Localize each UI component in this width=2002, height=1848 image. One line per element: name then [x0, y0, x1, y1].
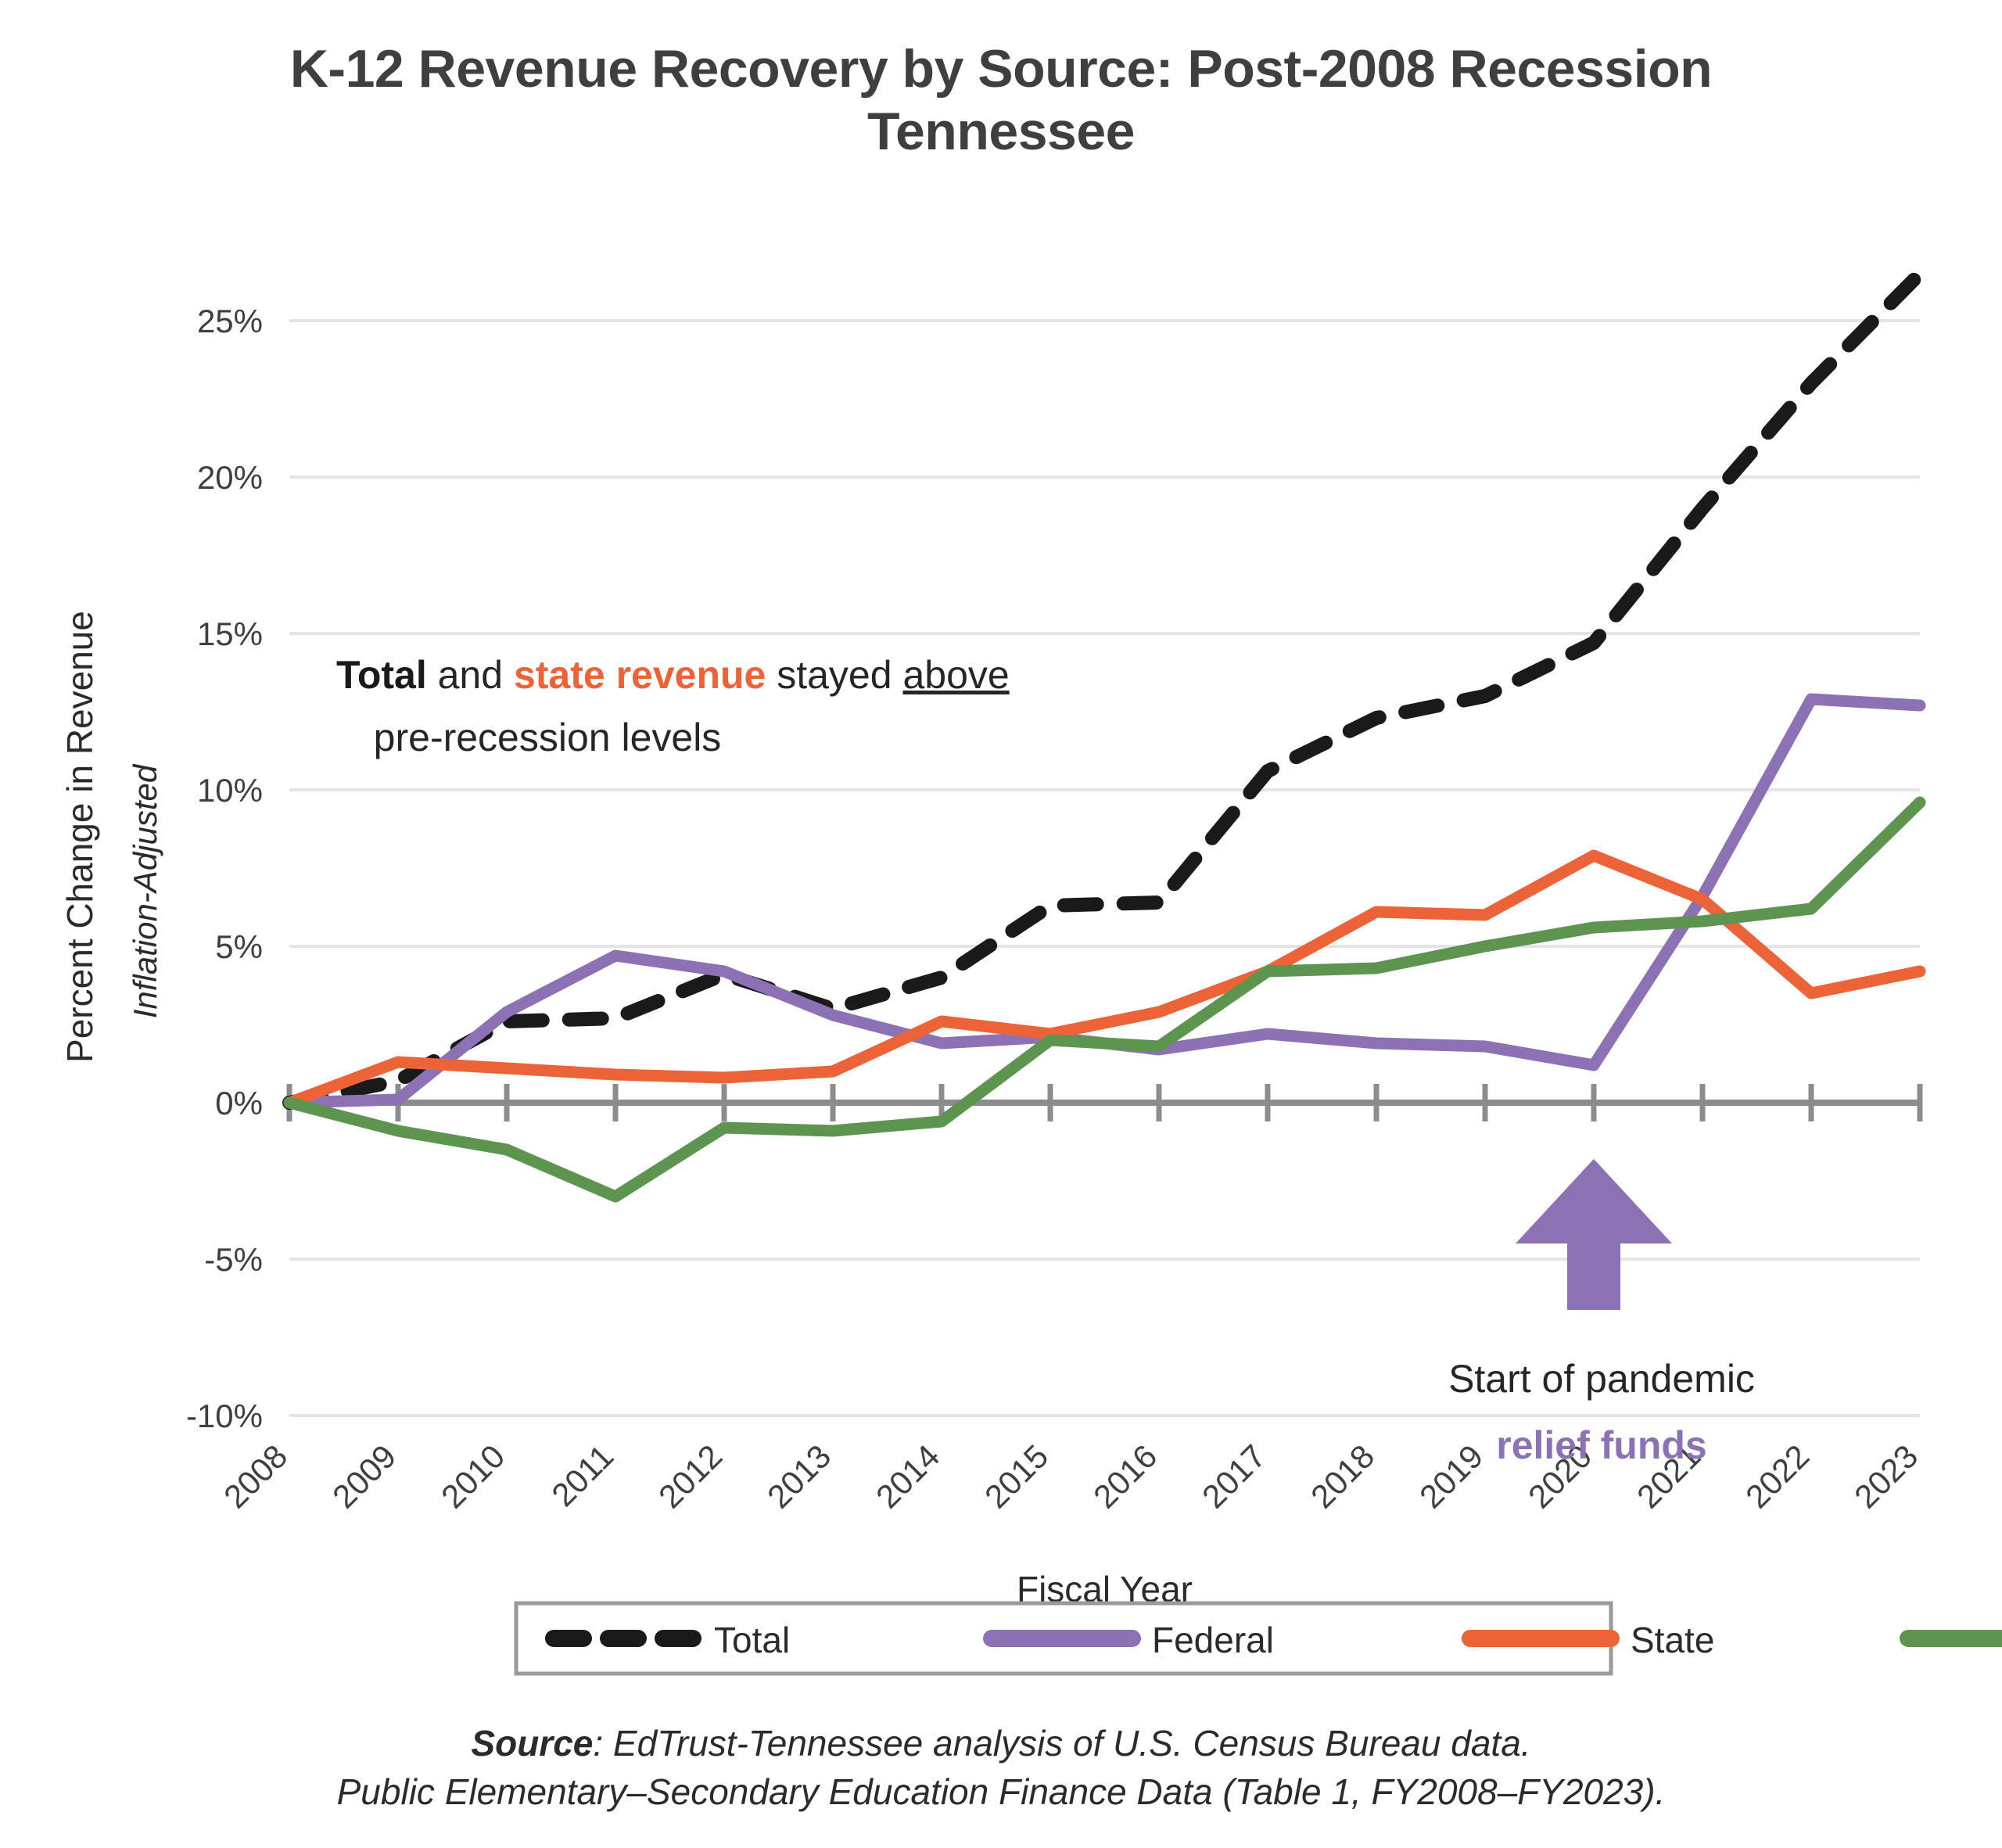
y-axis-tick-label: -10% — [186, 1398, 263, 1434]
callout-line-2: pre-recession levels — [374, 716, 722, 759]
legend-label-federal[interactable]: Federal — [1152, 1620, 1274, 1660]
x-axis-tick-label: 2011 — [544, 1437, 620, 1513]
y-axis-tick-label: 5% — [215, 928, 263, 965]
x-axis-tick-label: 2016 — [1086, 1437, 1164, 1515]
source-line-2: Public Elementary–Secondary Education Fi… — [0, 1767, 2002, 1816]
y-axis-tick-label: -5% — [204, 1241, 263, 1278]
x-axis-tick-label: 2022 — [1738, 1437, 1816, 1515]
x-axis-tick-label: 2012 — [651, 1437, 729, 1515]
gridlines: -10%-5%0%5%10%15%20%25% — [186, 303, 1920, 1434]
callout-total-word: Total — [336, 653, 427, 697]
x-axis-tick-label: 2008 — [217, 1437, 294, 1515]
callout-annotation: Total and state revenue stayed abovepre-… — [336, 653, 1010, 759]
pandemic-arrow-icon — [1516, 1159, 1672, 1310]
x-axis — [289, 1084, 1920, 1121]
source-line-1: Source: EdTrust-Tennessee analysis of U.… — [0, 1719, 2002, 1767]
y-axis-tick-label: 0% — [215, 1085, 263, 1121]
x-axis-tick-label: 2009 — [325, 1437, 403, 1515]
pandemic-annotation-line-2: relief funds — [1496, 1423, 1706, 1467]
callout-verb: stayed — [766, 653, 902, 697]
y-axis-tick-label: 20% — [197, 459, 263, 496]
chart-canvas: -10%-5%0%5%10%15%20%25%20082009201020112… — [0, 0, 2002, 1848]
x-axis-tick-label: 2010 — [434, 1437, 511, 1515]
source-note: Source: EdTrust-Tennessee analysis of U.… — [0, 1719, 2002, 1816]
legend-label-total[interactable]: Total — [714, 1620, 790, 1660]
series-line-state — [289, 856, 1920, 1103]
x-axis-tick-label: 2014 — [869, 1437, 946, 1515]
source-line-1-rest: : EdTrust-Tennessee analysis of U.S. Cen… — [593, 1723, 1530, 1764]
y-axis-tick-label: 10% — [197, 772, 263, 809]
callout-conjunction: and — [427, 653, 514, 697]
y-axis-title: Percent Change in Revenue — [59, 611, 100, 1063]
x-axis-tick-label: 2023 — [1847, 1437, 1925, 1515]
x-axis-tick-label: 2019 — [1412, 1437, 1490, 1515]
line-chart-svg: -10%-5%0%5%10%15%20%25%20082009201020112… — [0, 0, 2002, 1848]
callout-line-1: Total and state revenue stayed above — [336, 653, 1010, 697]
x-axis-tick-label: 2017 — [1195, 1437, 1272, 1515]
legend-label-state[interactable]: State — [1631, 1620, 1714, 1660]
y-axis-tick-label: 25% — [197, 303, 263, 339]
legend[interactable]: TotalFederalStateLocal — [516, 1603, 2002, 1674]
y-axis-subtitle: Inflation-Adjusted — [127, 763, 163, 1018]
callout-above-word: above — [902, 653, 1009, 697]
x-axis-tick-label: 2013 — [760, 1437, 838, 1515]
y-axis-tick-label: 15% — [197, 615, 263, 652]
x-axis-tick-label: 2015 — [978, 1437, 1055, 1515]
callout-state-revenue-word: state revenue — [514, 653, 766, 697]
x-axis-tick-label: 2018 — [1304, 1437, 1381, 1515]
source-label: Source — [471, 1723, 593, 1764]
pandemic-annotation-line-1: Start of pandemic — [1448, 1357, 1755, 1401]
